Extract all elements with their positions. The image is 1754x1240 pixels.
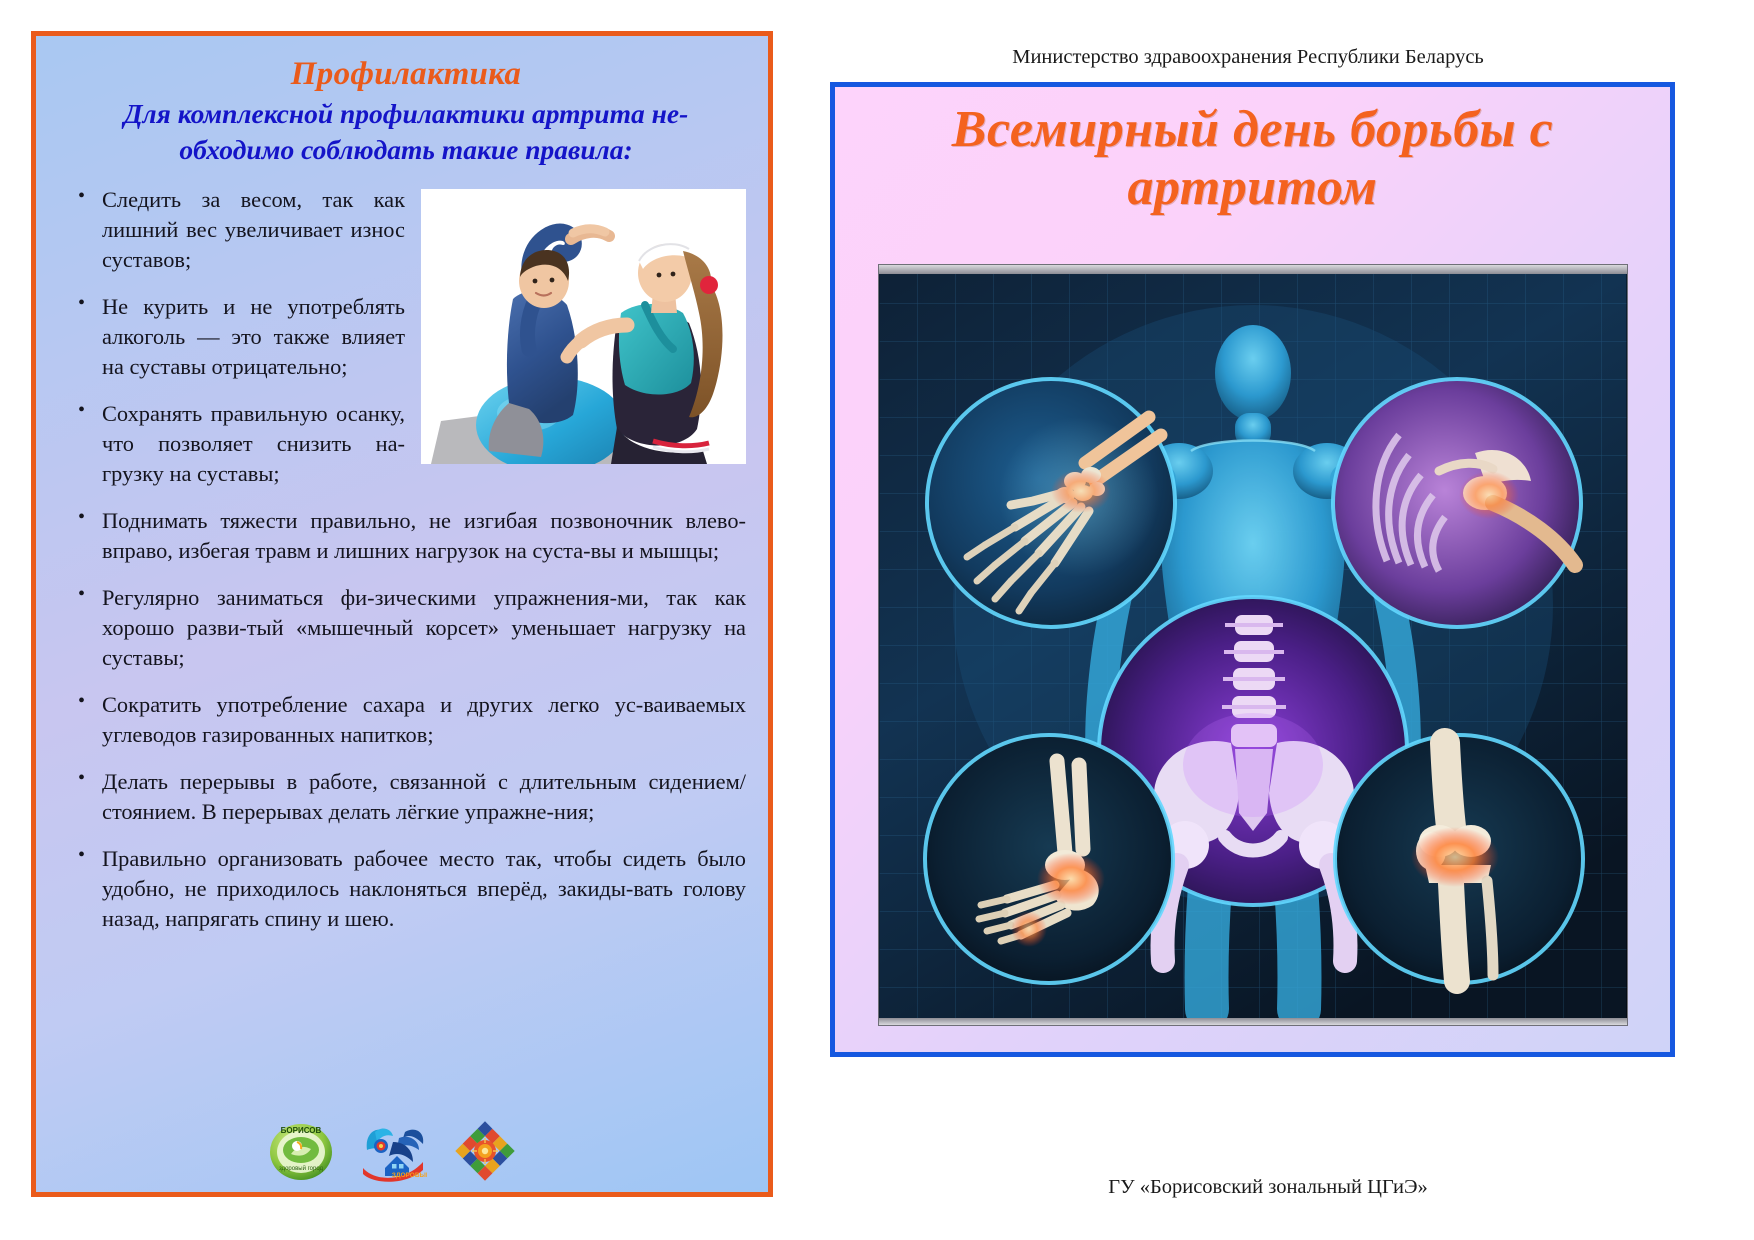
colorful-diamond-logo — [451, 1120, 519, 1182]
list-item: Регулярно заниматься фи-зическими упражн… — [66, 583, 746, 673]
svg-text:здоровый город: здоровый город — [279, 1165, 324, 1172]
page-title: Профилактика — [66, 56, 746, 94]
cover-panel: Всемирный день борьбы с артритом — [830, 82, 1675, 1057]
arthritis-joints-xray-image — [879, 265, 1627, 1025]
ankle-joint-callout — [925, 735, 1173, 983]
list-item: Сократить употребление сахара и других л… — [66, 690, 746, 750]
image-bottom-edge — [879, 1018, 1627, 1025]
prevention-subtitle: Для комплексной профилактики артрита не-… — [74, 96, 738, 169]
healthy-cities-towns-logo-graphic: ЗДОРОВЫЕ — [359, 1120, 427, 1182]
prevention-tips-list: Следить за весом, так как лишний вес уве… — [66, 185, 746, 934]
ministry-header: Министерство здравоохранения Республики … — [828, 46, 1668, 69]
svg-text:БОРИСОВ: БОРИСОВ — [281, 1126, 322, 1135]
hand-wrist-joint-callout — [927, 379, 1175, 627]
svg-text:ЗДОРОВЫЕ: ЗДОРОВЫЕ — [392, 1172, 427, 1179]
borisov-healthy-city-logo-graphic: БОРИСОВ здоровый город — [267, 1120, 335, 1182]
partner-logos: БОРИСОВ здоровый город — [36, 1120, 768, 1182]
borisov-healthy-city-logo: БОРИСОВ здоровый город — [267, 1120, 335, 1182]
knee-joint-callout — [1335, 735, 1583, 983]
list-item: Поднимать тяжести правильно, не изгибая … — [66, 506, 746, 566]
list-item: Не курить и не употреблять алкоголь — эт… — [66, 292, 746, 382]
list-item: Следить за весом, так как лишний вес уве… — [66, 185, 746, 275]
title-page-column: Министерство здравоохранения Республики … — [828, 0, 1728, 1240]
colorful-diamond-logo-graphic — [451, 1120, 519, 1182]
list-item: Делать перерывы в работе, связанной с дл… — [66, 767, 746, 827]
list-item: Сохранять правильную осанку, что позволя… — [66, 399, 746, 489]
image-top-edge — [879, 265, 1627, 274]
arthritis-joints-illustration — [879, 265, 1627, 1025]
prevention-panel: Профилактика Для комплексной профилактик… — [31, 31, 773, 1197]
organization-footer: ГУ «Борисовский зональный ЦГиЭ» — [828, 1176, 1708, 1199]
list-item: Правильно организовать рабочее место так… — [66, 844, 746, 934]
shoulder-joint-callout — [1333, 379, 1581, 627]
healthy-cities-towns-logo: ЗДОРОВЫЕ — [359, 1120, 427, 1182]
cover-title: Всемирный день борьбы с артритом — [853, 101, 1652, 217]
